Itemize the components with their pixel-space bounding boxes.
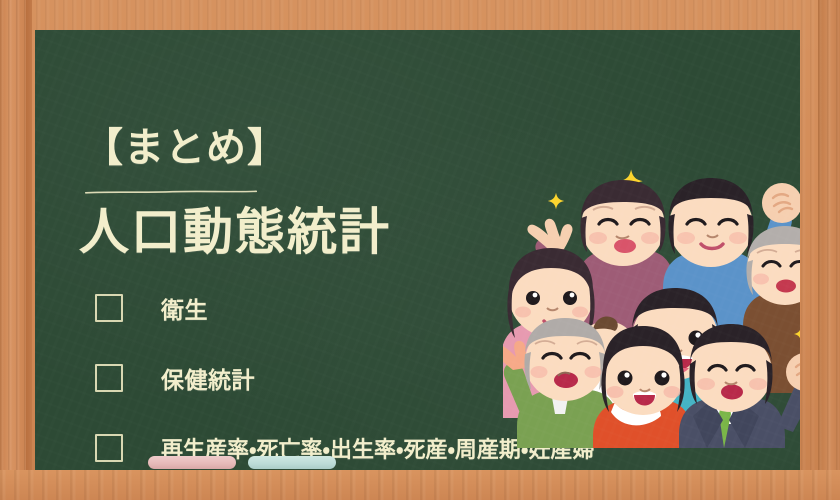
- frame-left-edge: [0, 0, 26, 500]
- checklist-item-label: 保健統計: [161, 361, 255, 395]
- cheering-crowd-illustration: [503, 158, 800, 448]
- kicker-text: 【まとめ】: [83, 128, 288, 168]
- chalk-stick-blue[interactable]: [248, 456, 336, 469]
- checkbox-icon[interactable]: [95, 294, 123, 322]
- checklist-item-label: 衛生: [161, 291, 208, 325]
- chalk-stick-pink[interactable]: [148, 456, 236, 469]
- chalkboard: 【まとめ】 人口動態統計 衛生 保健統計 再生産率・死亡率・出生率・死産・周産期…: [35, 30, 800, 470]
- frame-left-shadow: [26, 0, 32, 500]
- frame-bottom-ledge: [0, 470, 840, 500]
- slide-canvas: 【まとめ】 人口動態統計 衛生 保健統計 再生産率・死亡率・出生率・死産・周産期…: [0, 0, 840, 500]
- page-title: 人口動態統計: [79, 205, 391, 260]
- kicker-underline-stroke: [85, 190, 257, 194]
- checkbox-icon[interactable]: [95, 364, 123, 392]
- checkbox-icon[interactable]: [95, 434, 123, 462]
- frame-right-edge: [818, 0, 840, 500]
